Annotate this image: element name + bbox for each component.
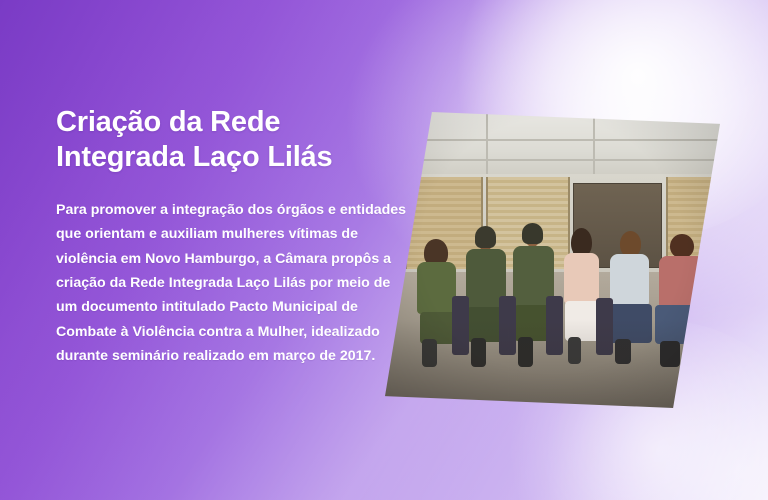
page-title-line-2: Integrada Laço Lilás [56,140,426,175]
slide-canvas: Criação da Rede Integrada Laço Lilás Par… [0,0,768,500]
meeting-photo-image [385,112,720,408]
text-block: Criação da Rede Integrada Laço Lilás Par… [56,105,426,369]
body-paragraph: Para promover a integração dos órgãos e … [56,198,414,369]
page-title: Criação da Rede Integrada Laço Lilás [56,105,426,176]
page-title-line-1: Criação da Rede [56,106,280,138]
meeting-photo [385,112,720,408]
photo-vignette [385,112,720,408]
